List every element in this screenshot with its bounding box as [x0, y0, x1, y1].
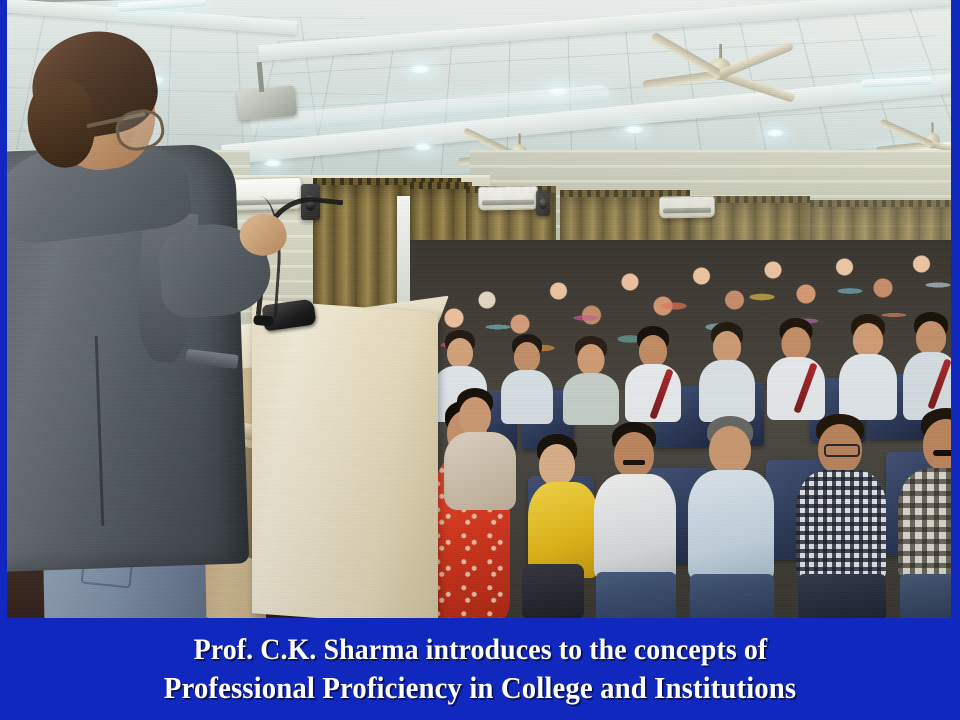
downlight: [412, 142, 434, 152]
audience-member-front: [432, 390, 518, 510]
audience-member-front: [788, 416, 892, 620]
audience-member: [562, 338, 620, 424]
caption-banner: Prof. C.K. Sharma introduces to the conc…: [0, 618, 960, 720]
moustache: [623, 460, 645, 465]
pale-sari: [444, 432, 516, 510]
photo-frame: Prof. C.K. Sharma introduces to the conc…: [0, 0, 960, 720]
fan-blade: [718, 41, 794, 79]
head: [578, 344, 605, 375]
head: [447, 338, 473, 368]
audience: [410, 240, 960, 620]
head: [782, 327, 811, 360]
audience-member-front: [680, 418, 780, 620]
audience-member: [766, 320, 826, 420]
head: [539, 444, 575, 486]
caption-line-2: Professional Proficiency in College and …: [164, 668, 796, 707]
head: [853, 323, 883, 357]
downlight: [764, 128, 786, 138]
jeans: [596, 572, 676, 620]
trousers: [798, 574, 886, 620]
audience-member-front: [892, 410, 960, 620]
eyeglasses: [824, 444, 860, 457]
head: [514, 342, 540, 372]
ceiling-fan: [640, 44, 800, 104]
white-shirt: [594, 474, 676, 580]
head: [916, 321, 946, 355]
audience-member-front: [586, 424, 682, 620]
checked-shirt: [796, 470, 886, 580]
event-photograph: [0, 0, 960, 620]
left-blue-border: [0, 0, 7, 620]
loudspeaker: [536, 190, 550, 216]
presenter: [0, 36, 290, 620]
head: [639, 335, 667, 367]
head: [709, 426, 751, 474]
torso: [699, 360, 755, 422]
caption-line-1: Prof. C.K. Sharma introduces to the conc…: [193, 631, 767, 669]
light-blue-shirt: [688, 470, 774, 580]
audience-member: [698, 324, 756, 422]
downlight: [407, 63, 433, 75]
bag: [522, 564, 584, 620]
head: [459, 397, 491, 435]
torso: [563, 373, 619, 425]
audience-member: [838, 316, 898, 420]
torso: [839, 354, 897, 420]
downlight: [622, 124, 646, 135]
right-blue-border: [951, 0, 960, 620]
audience-member: [624, 328, 682, 422]
curtain-rod: [410, 182, 472, 189]
curtain-rod: [810, 200, 960, 207]
air-conditioner: [478, 185, 538, 210]
air-conditioner: [659, 196, 715, 219]
head: [713, 331, 741, 363]
trousers: [690, 574, 774, 620]
head: [614, 432, 654, 478]
